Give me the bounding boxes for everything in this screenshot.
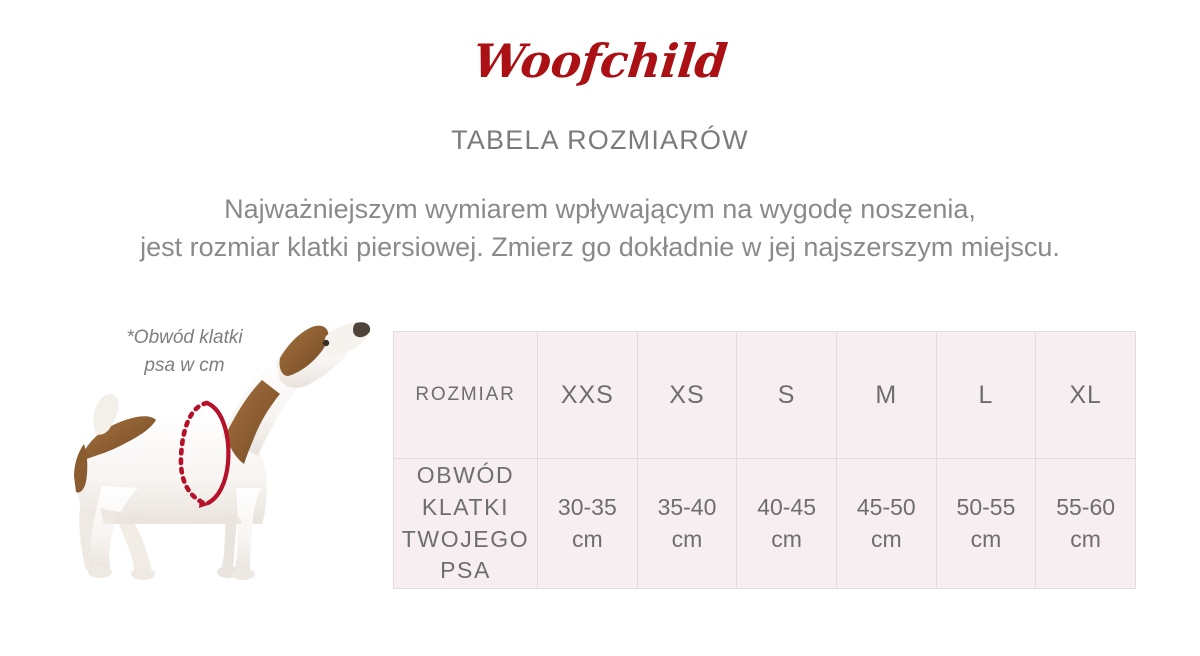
cell-value: 50-55 cm: [938, 492, 1035, 555]
header-size-m: M: [836, 332, 936, 459]
row-label-text: OBWÓD KLATKI TWOJEGO PSA: [395, 460, 536, 587]
cell-chest-m: 45-50 cm: [836, 459, 936, 589]
cell-value: 35-40 cm: [639, 492, 736, 555]
size-table: ROZMIAR XXS XS S M L XL OBWÓD KLATKI TWO…: [393, 331, 1136, 589]
header-size-xl: XL: [1036, 332, 1136, 459]
header-size-xxs: XXS: [538, 332, 638, 459]
cell-value: 30-35 cm: [539, 492, 636, 555]
cell-chest-xxs: 30-35 cm: [538, 459, 638, 589]
cell-value: 45-50 cm: [838, 492, 935, 555]
header-label-rozmiar: ROZMIAR: [394, 332, 538, 459]
dog-illustration: [40, 318, 390, 583]
cell-chest-xl: 55-60 cm: [1036, 459, 1136, 589]
cell-chest-xs: 35-40 cm: [637, 459, 737, 589]
dog-body-group: [74, 322, 370, 580]
cell-value: 40-45 cm: [738, 492, 835, 555]
size-chart-page: Woofchild TABELA ROZMIARÓW Najważniejszy…: [0, 0, 1200, 656]
brand-logo: Woofchild: [0, 38, 1200, 84]
intro-line-1: Najważniejszym wymiarem wpływającym na w…: [0, 190, 1200, 228]
header-size-l: L: [936, 332, 1036, 459]
table-row: OBWÓD KLATKI TWOJEGO PSA 30-35 cm 35-40 …: [394, 459, 1136, 589]
table-header-row: ROZMIAR XXS XS S M L XL: [394, 332, 1136, 459]
row-label-chest-girth: OBWÓD KLATKI TWOJEGO PSA: [394, 459, 538, 589]
cell-chest-s: 40-45 cm: [737, 459, 837, 589]
cell-value: 55-60 cm: [1037, 492, 1134, 555]
intro-line-2: jest rozmiar klatki piersiowej. Zmierz g…: [0, 228, 1200, 266]
measurement-illustration: *Obwód klatki psa w cm: [40, 318, 390, 583]
cell-chest-l: 50-55 cm: [936, 459, 1036, 589]
intro-paragraph: Najważniejszym wymiarem wpływającym na w…: [0, 190, 1200, 267]
page-title: TABELA ROZMIARÓW: [0, 124, 1200, 156]
header-size-s: S: [737, 332, 837, 459]
header-size-xs: XS: [637, 332, 737, 459]
